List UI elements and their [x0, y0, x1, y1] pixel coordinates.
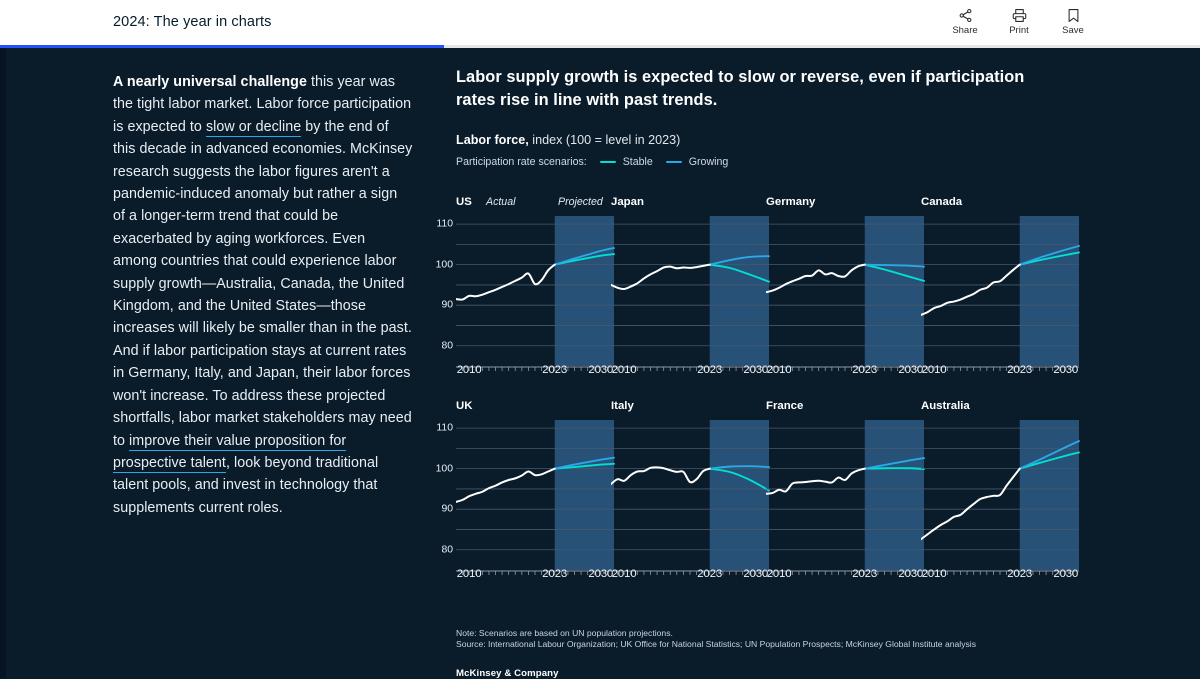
article-paragraph: A nearly universal challenge this year w…	[113, 71, 413, 519]
print-button[interactable]: Print	[1002, 8, 1036, 36]
x-axis-labels: 201020232030	[766, 364, 936, 382]
x-axis-tick-label: 2023	[852, 364, 877, 376]
chart-legend: Participation rate scenarios: Stable Gro…	[456, 156, 1096, 168]
chart-panel-france: France201020232030	[766, 400, 924, 594]
left-rail	[0, 48, 6, 678]
y-axis-tick-label: 80	[441, 544, 453, 555]
x-axis-tick-label: 2030	[1053, 568, 1078, 580]
chart-panel-germany: Germany201020232030	[766, 196, 924, 390]
x-axis-labels: 201020232030	[611, 364, 781, 382]
y-axis-labels: 8090100110	[425, 216, 453, 366]
exhibit-note: Note: Scenarios are based on UN populati…	[456, 628, 1096, 639]
article-text-2: by the end of this decade in advanced ec…	[113, 119, 412, 449]
x-axis-tick-label: 2010	[457, 364, 482, 376]
series-line-actual	[921, 469, 1020, 540]
projected-band	[710, 216, 769, 366]
projected-band	[1020, 216, 1079, 366]
plot-area	[921, 420, 1079, 570]
small-multiples-grid: USActualProjected8090100110201020232030J…	[456, 196, 1096, 594]
x-axis-labels: 201020232030	[456, 364, 626, 382]
article-lead-bold: A nearly universal challenge	[113, 74, 307, 90]
phase-label-actual: Actual	[486, 196, 515, 208]
projected-band	[1020, 420, 1079, 570]
series-line-actual	[611, 467, 710, 484]
x-axis-tick-label: 2010	[612, 364, 637, 376]
legend-item-stable[interactable]: Stable	[600, 156, 653, 168]
exhibit-footnotes: Note: Scenarios are based on UN populati…	[456, 628, 1096, 651]
x-axis-tick-label: 2023	[697, 364, 722, 376]
x-axis-labels: 201020232030	[766, 568, 936, 586]
series-line-actual	[456, 265, 555, 300]
x-axis-tick-label: 2023	[542, 568, 567, 580]
series-line-actual	[921, 265, 1020, 315]
article-link-slow-or-decline[interactable]: slow or decline	[206, 119, 301, 137]
panel-title: Australia	[921, 400, 970, 412]
panel-title: France	[766, 400, 803, 412]
panel-title: UK	[456, 400, 472, 412]
x-axis-tick-label: 2023	[697, 568, 722, 580]
x-axis-labels: 201020232030	[456, 568, 626, 586]
y-axis-tick-label: 110	[436, 219, 453, 230]
x-axis-tick-label: 2023	[542, 364, 567, 376]
phase-label-projected: Projected	[558, 196, 603, 208]
exhibit-subtitle: Labor force, index (100 = level in 2023)	[456, 133, 1096, 147]
series-line-stable	[865, 468, 924, 469]
projected-band	[865, 420, 924, 570]
x-axis-tick-label: 2023	[1007, 364, 1032, 376]
y-axis-tick-label: 100	[436, 463, 453, 474]
panel-title: Germany	[766, 196, 815, 208]
print-label: Print	[1009, 26, 1029, 36]
print-icon	[1012, 8, 1027, 23]
legend-label-stable: Stable	[623, 156, 653, 168]
legend-label-growing: Growing	[689, 156, 728, 168]
chart-panel-canada: Canada201020232030	[921, 196, 1079, 390]
series-line-actual	[766, 265, 865, 293]
chart-panel-uk: UK8090100110201020232030	[456, 400, 614, 594]
x-axis-tick-label: 2030	[743, 568, 768, 580]
legend-swatch-stable	[600, 161, 616, 163]
x-axis-tick-label: 2030	[898, 568, 923, 580]
legend-title: Participation rate scenarios:	[456, 156, 587, 168]
x-axis-tick-label: 2010	[457, 568, 482, 580]
x-axis-tick-label: 2023	[1007, 568, 1032, 580]
top-bar: 2024: The year in charts Share Print	[0, 0, 1200, 47]
bookmark-icon	[1066, 8, 1081, 23]
x-axis-labels: 201020232030	[611, 568, 781, 586]
share-label: Share	[952, 26, 977, 36]
x-axis-tick-label: 2010	[767, 364, 792, 376]
series-line-actual	[766, 469, 865, 494]
x-axis-labels: 201020232030	[921, 364, 1091, 382]
exhibit-subtitle-rest: index (100 = level in 2023)	[529, 133, 681, 147]
y-axis-tick-label: 100	[436, 259, 453, 270]
x-axis-tick-label: 2010	[922, 364, 947, 376]
panel-title: Canada	[921, 196, 962, 208]
y-axis-tick-label: 80	[441, 340, 453, 351]
y-axis-tick-label: 110	[436, 423, 453, 434]
toolbar-actions: Share Print Save	[948, 8, 1090, 36]
exhibit-source: Source: International Labour Organizatio…	[456, 639, 1096, 650]
projected-band	[865, 216, 924, 366]
projected-band	[555, 420, 614, 570]
plot-area	[456, 216, 614, 366]
chart-panel-australia: Australia201020232030	[921, 400, 1079, 594]
x-axis-tick-label: 2010	[767, 568, 792, 580]
share-button[interactable]: Share	[948, 8, 982, 36]
legend-item-growing[interactable]: Growing	[666, 156, 728, 168]
plot-area	[766, 216, 924, 366]
exhibit-subtitle-bold: Labor force,	[456, 133, 529, 147]
y-axis-tick-label: 90	[441, 300, 453, 311]
x-axis-tick-label: 2023	[852, 568, 877, 580]
panel-title: US	[456, 196, 472, 208]
projected-band	[555, 216, 614, 366]
chart-panel-us: USActualProjected8090100110201020232030	[456, 196, 614, 390]
y-axis-labels: 8090100110	[425, 420, 453, 570]
share-icon	[958, 8, 973, 23]
x-axis-tick-label: 2030	[898, 364, 923, 376]
x-axis-tick-label: 2030	[1053, 364, 1078, 376]
mckinsey-logo: McKinsey & Company	[456, 668, 559, 679]
x-axis-tick-label: 2030	[588, 568, 613, 580]
series-line-actual	[456, 469, 555, 502]
save-label: Save	[1062, 26, 1084, 36]
x-axis-labels: 201020232030	[921, 568, 1091, 586]
legend-swatch-growing	[666, 161, 682, 163]
plot-area	[766, 420, 924, 570]
projected-band	[710, 420, 769, 570]
chart-panel-italy: Italy201020232030	[611, 400, 769, 594]
chart-row-1: USActualProjected8090100110201020232030J…	[456, 196, 1096, 390]
y-axis-tick-label: 90	[441, 504, 453, 515]
panel-title: Italy	[611, 400, 634, 412]
x-axis-tick-label: 2030	[588, 364, 613, 376]
panel-title: Japan	[611, 196, 644, 208]
plot-area	[611, 420, 769, 570]
series-line-actual	[611, 265, 710, 289]
save-button[interactable]: Save	[1056, 8, 1090, 36]
x-axis-tick-label: 2030	[743, 364, 768, 376]
page-content: A nearly universal challenge this year w…	[0, 48, 1200, 678]
chart-row-2: UK8090100110201020232030Italy20102023203…	[456, 400, 1096, 594]
chart-panel-japan: Japan201020232030	[611, 196, 769, 390]
plot-area	[611, 216, 769, 366]
x-axis-tick-label: 2010	[612, 568, 637, 580]
page-title: 2024: The year in charts	[113, 14, 272, 30]
plot-area	[456, 420, 614, 570]
exhibit: Labor supply growth is expected to slow …	[456, 66, 1096, 168]
exhibit-title: Labor supply growth is expected to slow …	[456, 66, 1056, 111]
x-axis-tick-label: 2010	[922, 568, 947, 580]
plot-area	[921, 216, 1079, 366]
